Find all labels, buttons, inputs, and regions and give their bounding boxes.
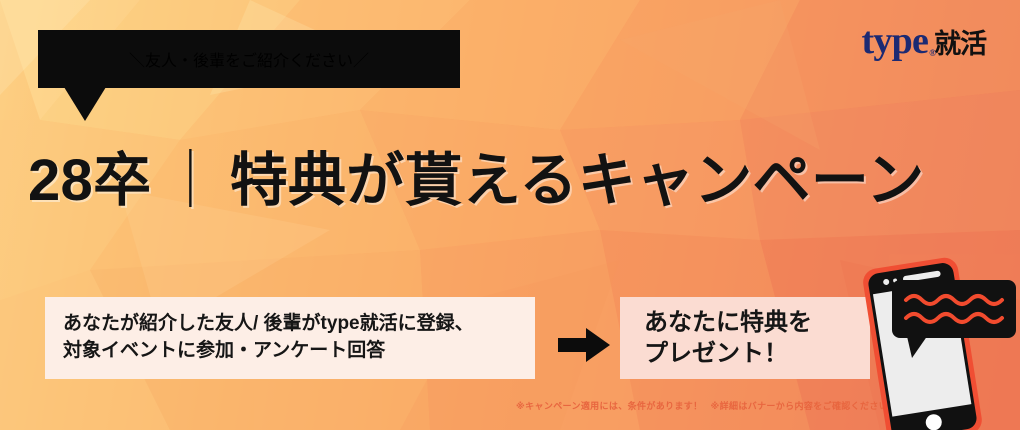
phone-screen — [873, 282, 971, 417]
speech-bubble — [892, 280, 1016, 338]
campaign-banner: ＼友人・後輩をご紹介ください／ type ® 就活 28卒｜特典が貰えるキャンペ… — [0, 0, 1020, 430]
ribbon-pointer-triangle — [64, 87, 106, 121]
squiggle-line-1 — [906, 296, 1002, 304]
phone-home-button — [925, 413, 943, 430]
logo-wordmark: type ® — [862, 22, 929, 60]
condition-line-2: 対象イベントに参加・アンケート回答 — [63, 338, 535, 365]
disclaimer-text: ※キャンペーン適用には、条件があります！※詳細はバナーから内容をご確認ください — [516, 399, 896, 412]
headline-prefix: 28卒 — [28, 148, 151, 213]
condition-box: あなたが紹介した友人/ 後輩がtype就活に登録、 対象イベントに参加・アンケー… — [45, 297, 535, 379]
speech-bubble-tail — [906, 332, 930, 358]
disclaimer-note-1: ※キャンペーン適用には、条件があります！ — [516, 401, 703, 411]
logo-wordmark-text: type — [862, 20, 929, 62]
ribbon-callout: ＼友人・後輩をご紹介ください／ — [38, 30, 460, 88]
reward-line-2: プレゼント！ — [644, 338, 870, 369]
reward-box: あなたに特典を プレゼント！ — [620, 297, 870, 379]
ribbon-label: ＼友人・後輩をご紹介ください／ — [129, 47, 369, 71]
headline-main: 特典が貰えるキャンペーン — [230, 148, 925, 213]
registered-trademark-icon: ® — [929, 49, 935, 58]
phone-speaker-slot — [903, 270, 941, 282]
page-title: 28卒｜特典が貰えるキャンペーン — [28, 152, 992, 210]
squiggle-line-2 — [906, 314, 1002, 322]
phone-sensor-dot — [893, 278, 898, 283]
disclaimer-note-2: ※詳細はバナーから内容をご確認ください — [711, 401, 889, 411]
phone-camera-dot — [883, 279, 890, 286]
arrow-right-icon — [558, 328, 610, 362]
reward-line-1: あなたに特典を — [644, 307, 870, 338]
type-shukatsu-logo[interactable]: type ® 就活 — [862, 22, 986, 60]
logo-suffix: 就活 — [934, 31, 986, 60]
condition-line-1: あなたが紹介した友人/ 後輩がtype就活に登録、 — [63, 311, 535, 338]
headline-separator: ｜ — [151, 148, 229, 213]
